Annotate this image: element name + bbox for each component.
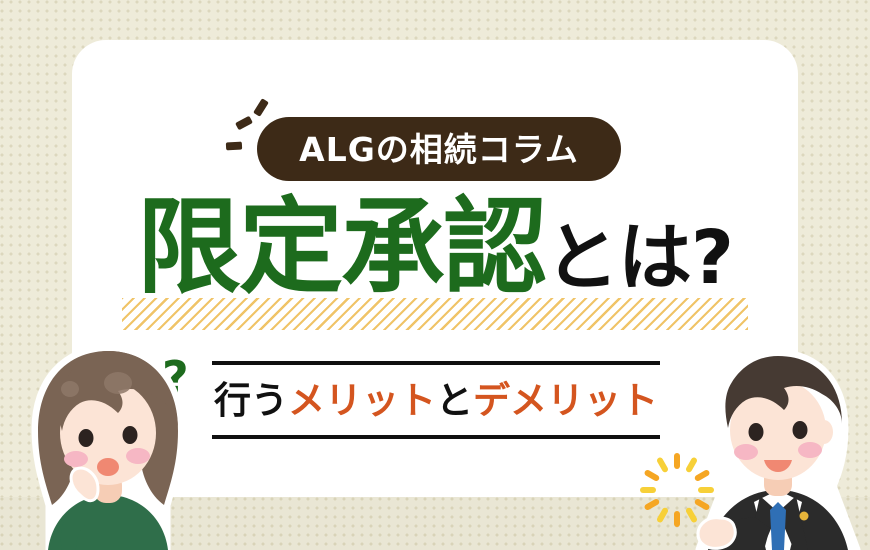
male-eye-right bbox=[793, 421, 808, 439]
subtitle-part-4: デメリット bbox=[473, 379, 658, 422]
female-hair-highlight bbox=[104, 372, 132, 394]
column-badge-label: ALGの相続コラム bbox=[299, 133, 579, 166]
male-blush-right bbox=[798, 442, 822, 458]
male-lapel-pin bbox=[800, 512, 809, 521]
female-eye-left bbox=[79, 429, 94, 447]
sparkle-burst-icon bbox=[634, 447, 720, 533]
subtitle-part-2: メリット bbox=[288, 379, 436, 422]
page-title: 限定承認とは? bbox=[0, 195, 870, 299]
male-tie bbox=[770, 502, 786, 550]
female-mouth bbox=[97, 458, 119, 476]
female-thinking-character bbox=[18, 345, 198, 550]
subtitle-text: 行うメリットとデメリット bbox=[214, 382, 658, 419]
male-eye-left bbox=[749, 423, 764, 441]
badge-spark-dash-icon bbox=[226, 142, 242, 151]
female-blush-right bbox=[126, 448, 150, 464]
column-badge: ALGの相続コラム bbox=[257, 117, 621, 181]
female-hair-highlight bbox=[61, 381, 79, 397]
subtitle-block: 行うメリットとデメリット bbox=[212, 361, 660, 439]
male-ear bbox=[815, 420, 833, 444]
male-blush-left bbox=[734, 444, 758, 460]
page-title-main: 限定承認 bbox=[137, 186, 545, 308]
female-eye-right bbox=[123, 426, 138, 444]
female-blush-left bbox=[64, 451, 88, 467]
poster-canvas: ALGの相続コラム 限定承認とは? ? 行うメリットとデメリット bbox=[0, 0, 870, 550]
page-title-suffix: とは? bbox=[545, 215, 733, 301]
subtitle-part-1: 行う bbox=[214, 379, 288, 422]
subtitle-part-3: と bbox=[436, 379, 473, 422]
